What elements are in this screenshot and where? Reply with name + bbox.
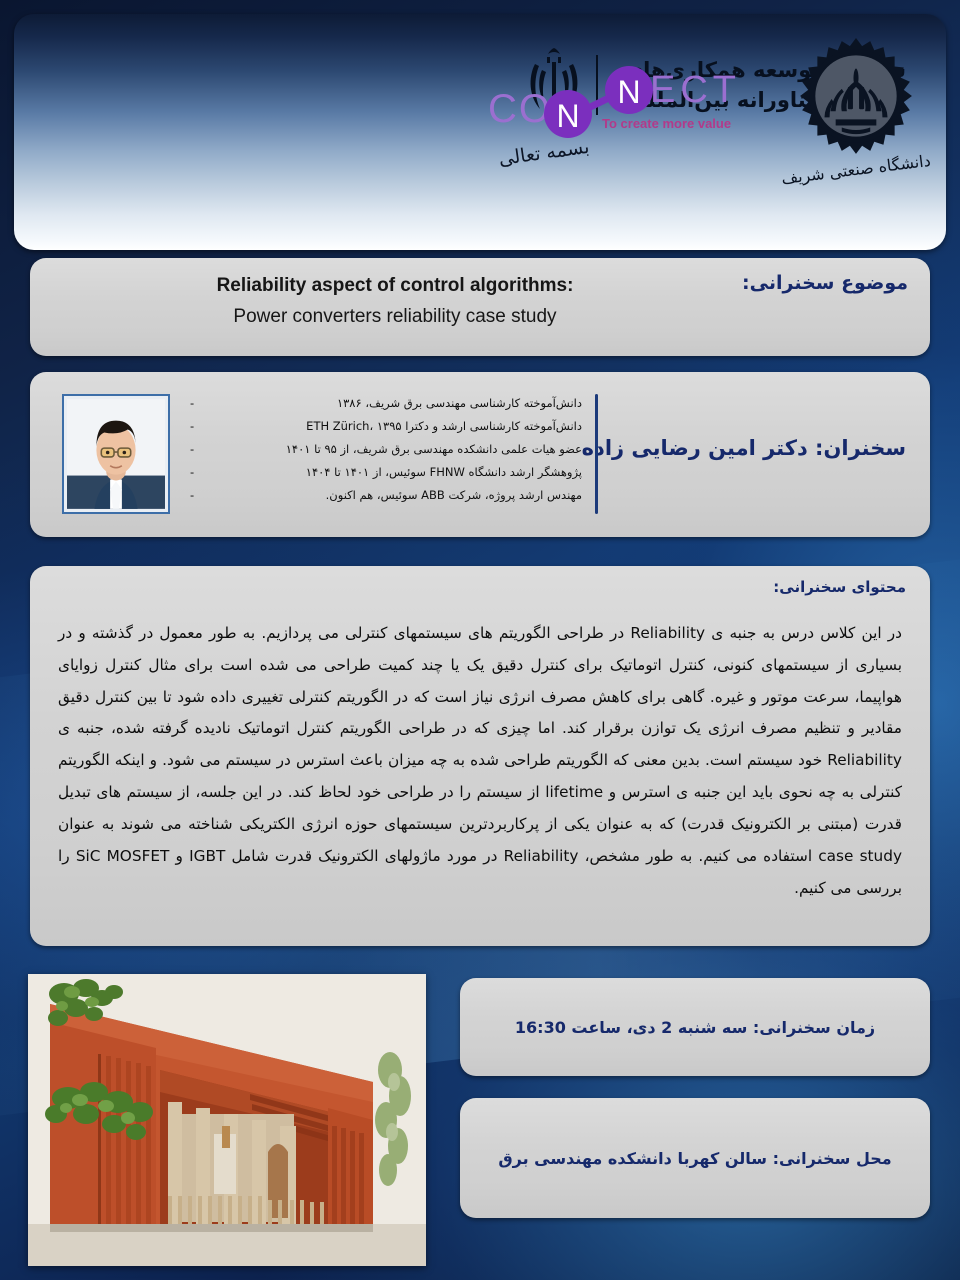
- svg-text:CO: CO: [488, 87, 552, 131]
- bio-item: دانش‌آموخته کارشناسی ارشد و دکترا ETH Zü…: [190, 415, 582, 438]
- bio-item: عضو هیات علمی دانشکده مهندسی برق شریف، ا…: [190, 438, 582, 461]
- bio-bullet: -: [190, 441, 194, 459]
- bio-item-text: پژوهشگر ارشد دانشگاه FHNW سوئیس، از ۱۴۰۱…: [204, 464, 582, 482]
- svg-text:N: N: [617, 74, 640, 110]
- sharif-gear-logo-icon: [795, 36, 917, 158]
- header-panel: سازمان توسعه همکاری‌های علمی و فناورانه …: [14, 14, 946, 250]
- speaker-divider: [595, 394, 598, 514]
- speaker-bio-list: دانش‌آموخته کارشناسی مهندسی برق شریف، ۱۳…: [190, 392, 582, 507]
- title-label: موضوع سخنرانی:: [742, 272, 908, 294]
- content-panel: محتوای سخنرانی: در این کلاس درس به جنبه …: [30, 566, 930, 946]
- bio-item-text: دانش‌آموخته کارشناسی ارشد و دکترا ETH Zü…: [204, 418, 582, 436]
- bio-bullet: -: [190, 395, 194, 413]
- title-line-secondary: Power converters reliability case study: [30, 301, 760, 332]
- place-text: محل سخنرانی: سالن کهربا دانشکده مهندسی ب…: [460, 1098, 930, 1218]
- svg-text:N: N: [556, 98, 579, 134]
- bio-item: پژوهشگر ارشد دانشگاه FHNW سوئیس، از ۱۴۰۱…: [190, 461, 582, 484]
- svg-text:ECT: ECT: [650, 69, 741, 111]
- bio-item: مهندس ارشد پروژه، شرکت ABB سوئیس، هم اکن…: [190, 484, 582, 507]
- sharif-logo-block: دانشگاه صنعتی شریف: [776, 36, 936, 211]
- bio-bullet: -: [190, 418, 194, 436]
- sharif-building-photo: [28, 974, 426, 1266]
- connect-logo-block: CO N N ECT To create more value: [484, 64, 754, 144]
- speaker-panel: سخنران: دکتر امین رضایی زاده دانش‌آموخته…: [30, 372, 930, 537]
- speaker-name: سخنران: دکتر امین رضایی زاده: [582, 436, 906, 460]
- title-line-primary: Reliability aspect of control algorithms…: [30, 270, 760, 301]
- place-panel: محل سخنرانی: سالن کهربا دانشکده مهندسی ب…: [460, 1098, 930, 1218]
- svg-text:To create more value: To create more value: [602, 116, 731, 131]
- connect-logo-icon: CO N N ECT To create more value: [484, 64, 754, 144]
- portrait-illustration-icon: [67, 399, 165, 509]
- speaker-portrait-photo: [62, 394, 170, 514]
- time-panel: زمان سخنرانی: سه شنبه 2 دی، ساعت 16:30: [460, 978, 930, 1076]
- bio-bullet: -: [190, 487, 194, 505]
- time-text: زمان سخنرانی: سه شنبه 2 دی، ساعت 16:30: [460, 978, 930, 1076]
- title-lines: Reliability aspect of control algorithms…: [30, 270, 760, 333]
- building-illustration-icon: [28, 974, 426, 1266]
- bio-item: دانش‌آموخته کارشناسی مهندسی برق شریف، ۱۳…: [190, 392, 582, 415]
- bio-item-text: مهندس ارشد پروژه، شرکت ABB سوئیس، هم اکن…: [204, 487, 582, 505]
- content-label: محتوای سخنرانی:: [773, 578, 906, 596]
- bio-bullet: -: [190, 464, 194, 482]
- bio-item-text: عضو هیات علمی دانشکده مهندسی برق شریف، ا…: [204, 441, 582, 459]
- bio-item-text: دانش‌آموخته کارشناسی مهندسی برق شریف، ۱۳…: [204, 395, 582, 413]
- title-panel: موضوع سخنرانی: Reliability aspect of con…: [30, 258, 930, 356]
- content-body-text: در این کلاس درس به جنبه ی Reliability در…: [58, 618, 902, 904]
- poster-root: سازمان توسعه همکاری‌های علمی و فناورانه …: [0, 0, 960, 1280]
